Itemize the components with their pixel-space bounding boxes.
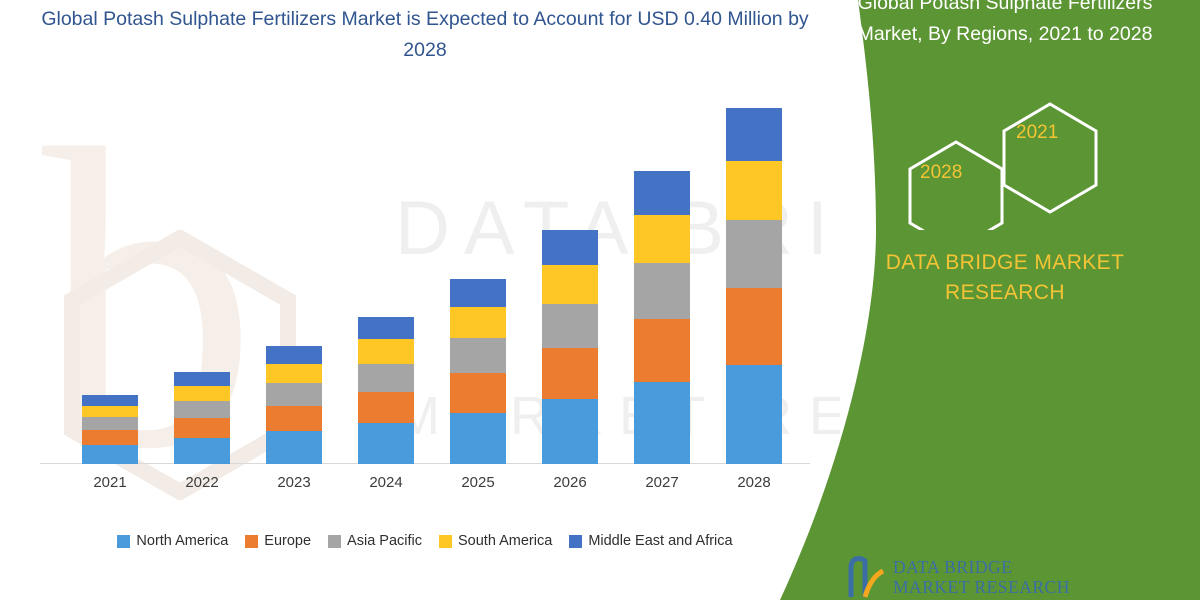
bar-segment — [82, 430, 138, 445]
bar-segment — [726, 365, 782, 464]
bar-segment — [266, 431, 322, 464]
bar-segment — [726, 288, 782, 365]
bar-segment — [726, 220, 782, 288]
bar-segment — [450, 373, 506, 413]
brand-panel: Global Potash Sulphate Fertilizers Marke… — [780, 0, 1200, 600]
legend-item[interactable]: Europe — [245, 533, 311, 549]
bar-group — [174, 90, 230, 464]
bar-segment — [82, 395, 138, 406]
bar-segment — [174, 372, 230, 386]
chart-legend: North AmericaEuropeAsia PacificSouth Ame… — [40, 533, 810, 549]
hex-label-2021: 2021 — [1016, 122, 1058, 144]
chart-title: Global Potash Sulphate Fertilizers Marke… — [40, 0, 810, 66]
bar-segment — [174, 418, 230, 438]
bar-segment — [450, 338, 506, 373]
bar-segment — [542, 304, 598, 348]
legend-label: South America — [458, 533, 552, 549]
panel-title: Global Potash Sulphate Fertilizers Marke… — [840, 0, 1170, 50]
legend-item[interactable]: North America — [117, 533, 228, 549]
bar-segment — [358, 392, 414, 424]
legend-swatch-icon — [328, 535, 341, 548]
brand-name: DATA BRIDGE MARKET RESEARCH — [810, 248, 1200, 308]
x-axis-tick-label: 2026 — [542, 474, 598, 491]
x-axis-labels: 20212022202320242025202620272028 — [64, 468, 800, 496]
bar-segment — [450, 307, 506, 337]
x-axis-tick-label: 2024 — [358, 474, 414, 491]
legend-item[interactable]: South America — [439, 533, 552, 549]
legend-label: North America — [136, 533, 228, 549]
bar-segment — [542, 348, 598, 398]
bar-segment — [174, 386, 230, 401]
legend-item[interactable]: Middle East and Africa — [569, 533, 732, 549]
bar-segment — [634, 319, 690, 382]
bar-segment — [174, 401, 230, 419]
bar-segment — [634, 215, 690, 263]
bar-group — [634, 90, 690, 464]
bridge-logo-icon — [845, 553, 887, 599]
brand-line-1: DATA BRIDGE MARKET — [810, 248, 1200, 278]
bar-segment — [174, 438, 230, 464]
bar-group — [358, 90, 414, 464]
legend-label: Middle East and Africa — [588, 533, 732, 549]
bars-container — [64, 90, 800, 464]
legend-swatch-icon — [569, 535, 582, 548]
x-axis-tick-label: 2021 — [82, 474, 138, 491]
bar-segment — [82, 417, 138, 430]
stacked-bar-chart: 20212022202320242025202620272028 — [40, 90, 810, 500]
x-axis-tick-label: 2023 — [266, 474, 322, 491]
hexagon-badges: 2028 2021 — [890, 100, 1180, 230]
x-axis-tick-label: 2028 — [726, 474, 782, 491]
brand-line-2: RESEARCH — [810, 278, 1200, 308]
legend-swatch-icon — [439, 535, 452, 548]
bar-segment — [726, 161, 782, 219]
bar-group — [542, 90, 598, 464]
legend-label: Asia Pacific — [347, 533, 422, 549]
bar-segment — [542, 230, 598, 265]
bar-segment — [450, 279, 506, 307]
x-axis-tick-label: 2027 — [634, 474, 690, 491]
bar-group — [266, 90, 322, 464]
footer-logo-line-2: MARKET RESEARCH — [893, 577, 1070, 597]
footer-logo: DATA BRIDGE MARKET RESEARCH — [845, 553, 1075, 601]
hex-label-2028: 2028 — [920, 162, 962, 184]
bar-segment — [726, 108, 782, 162]
bar-segment — [266, 364, 322, 384]
bar-segment — [266, 383, 322, 405]
bar-segment — [358, 317, 414, 339]
bar-group — [726, 90, 782, 464]
legend-swatch-icon — [117, 535, 130, 548]
bar-segment — [358, 423, 414, 464]
bar-segment — [358, 364, 414, 392]
bar-segment — [634, 382, 690, 464]
legend-item[interactable]: Asia Pacific — [328, 533, 422, 549]
bar-group — [82, 90, 138, 464]
bar-segment — [542, 399, 598, 464]
bar-segment — [266, 406, 322, 432]
x-axis-tick-label: 2022 — [174, 474, 230, 491]
bar-segment — [82, 406, 138, 418]
bar-group — [450, 90, 506, 464]
x-axis-tick-label: 2025 — [450, 474, 506, 491]
bar-segment — [82, 445, 138, 464]
bar-segment — [542, 265, 598, 304]
bar-segment — [358, 339, 414, 364]
legend-label: Europe — [264, 533, 311, 549]
footer-logo-line-1: DATA BRIDGE — [893, 557, 1070, 577]
legend-swatch-icon — [245, 535, 258, 548]
bar-segment — [634, 263, 690, 319]
bar-segment — [266, 346, 322, 364]
bar-segment — [634, 171, 690, 215]
bar-segment — [450, 413, 506, 464]
